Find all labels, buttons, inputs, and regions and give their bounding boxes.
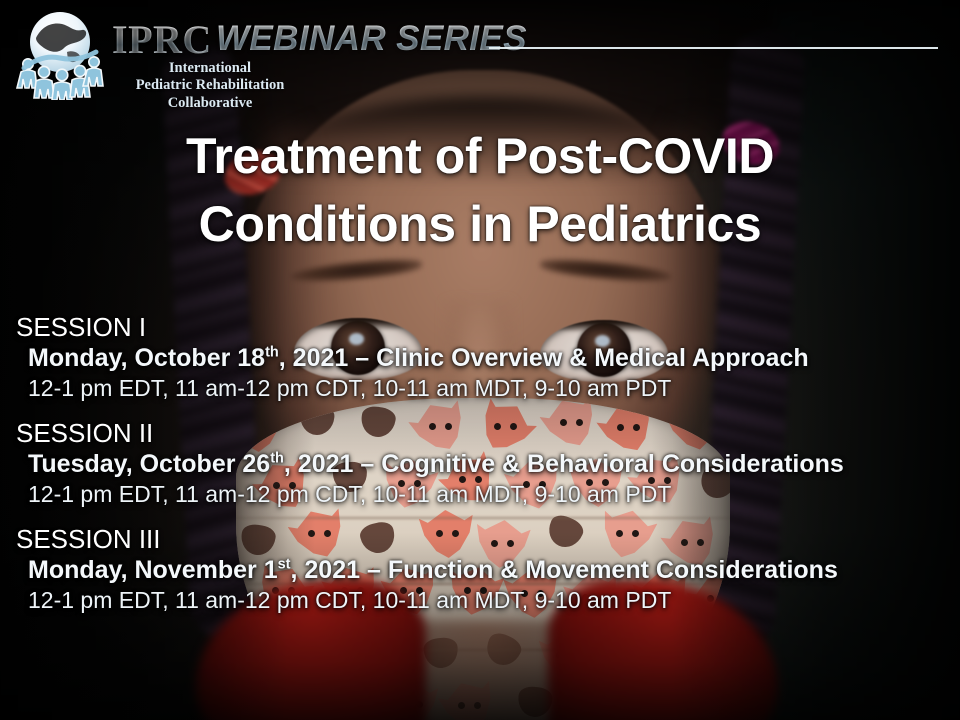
slide-header: IPRC WEBINAR SERIES International Pediat… (0, 0, 960, 112)
session-label: SESSION II (0, 418, 960, 449)
session-list: SESSION IMonday, October 18th, 2021 – Cl… (0, 312, 960, 630)
title-line-1: Treatment of Post-COVID (0, 122, 960, 190)
session-times: 12-1 pm EDT, 11 am-12 pm CDT, 10-11 am M… (0, 374, 960, 404)
session-date-suffix: , 2021 – Clinic Overview & Medical Appro… (279, 344, 809, 372)
session-date-ordinal: st (278, 556, 291, 572)
organization-name: International Pediatric Rehabilitation C… (100, 60, 320, 112)
session-label: SESSION III (0, 524, 960, 555)
session-date: Tuesday, October 26th, 2021 – Cognitive … (0, 449, 960, 481)
session-date-ordinal: th (265, 344, 279, 360)
session-date-ordinal: th (270, 450, 284, 466)
brand-acronym: IPRC (112, 20, 212, 60)
session-date-suffix: , 2021 – Function & Movement Considerati… (291, 556, 838, 584)
org-line-3: Collaborative (100, 95, 320, 112)
session-block: SESSION IIIMonday, November 1st, 2021 – … (0, 524, 960, 616)
title-line-2: Conditions in Pediatrics (0, 190, 960, 258)
session-block: SESSION IITuesday, October 26th, 2021 – … (0, 418, 960, 510)
session-date: Monday, October 18th, 2021 – Clinic Over… (0, 343, 960, 375)
session-times: 12-1 pm EDT, 11 am-12 pm CDT, 10-11 am M… (0, 480, 960, 510)
webinar-announcement-slide: IPRC WEBINAR SERIES International Pediat… (0, 0, 960, 720)
iprc-globe-people-logo (12, 8, 108, 100)
page-title: Treatment of Post-COVID Conditions in Pe… (0, 122, 960, 258)
session-label: SESSION I (0, 312, 960, 343)
session-times: 12-1 pm EDT, 11 am-12 pm CDT, 10-11 am M… (0, 586, 960, 616)
session-date-prefix: Tuesday, October 26 (28, 450, 270, 478)
header-divider (489, 47, 938, 49)
session-date-suffix: , 2021 – Cognitive & Behavioral Consider… (284, 450, 844, 478)
session-block: SESSION IMonday, October 18th, 2021 – Cl… (0, 312, 960, 404)
session-date: Monday, November 1st, 2021 – Function & … (0, 555, 960, 587)
org-line-2: Pediatric Rehabilitation (100, 77, 320, 94)
session-date-prefix: Monday, November 1 (28, 556, 278, 584)
session-date-prefix: Monday, October 18 (28, 344, 265, 372)
brand-series-title: WEBINAR SERIES (216, 21, 527, 56)
org-line-1: International (100, 60, 320, 77)
